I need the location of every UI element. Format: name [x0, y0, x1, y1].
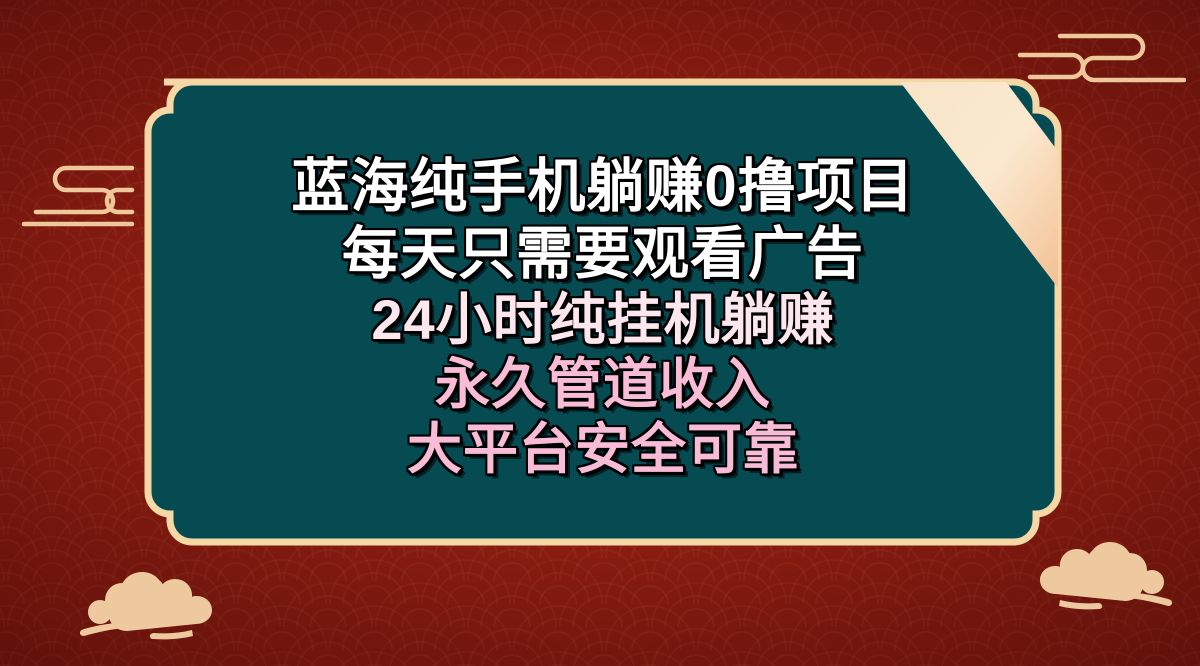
headline-line-4: 永久管道收入 — [435, 355, 771, 413]
headline-block: 蓝海纯手机躺赚0撸项目 每天只需要观看广告 24小时纯挂机躺赚 永久管道收入 大… — [134, 74, 1072, 554]
poster-canvas: 蓝海纯手机躺赚0撸项目 每天只需要观看广告 24小时纯挂机躺赚 永久管道收入 大… — [0, 0, 1200, 666]
auspicious-cloud-bottom-right-icon — [1030, 536, 1190, 612]
headline-line-5: 大平台安全可靠 — [407, 420, 799, 478]
auspicious-cloud-bottom-left-icon — [62, 566, 222, 642]
content-card: 蓝海纯手机躺赚0撸项目 每天只需要观看广告 24小时纯挂机躺赚 永久管道收入 大… — [134, 74, 1072, 554]
headline-line-1: 蓝海纯手机躺赚0撸项目 — [291, 156, 914, 217]
headline-line-2: 每天只需要观看广告 — [342, 224, 864, 284]
headline-line-3: 24小时纯挂机躺赚 — [371, 290, 834, 349]
